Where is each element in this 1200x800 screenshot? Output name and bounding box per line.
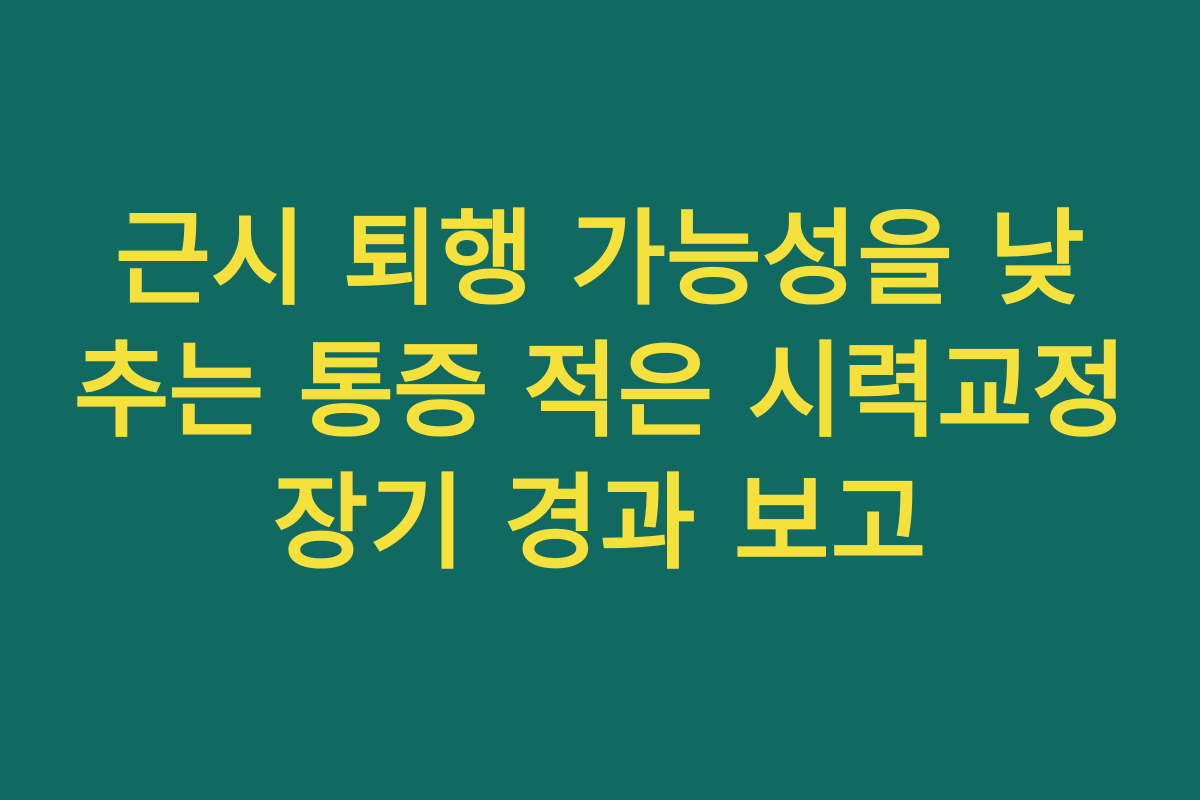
headline-text-block: 근시 퇴행 가능성을 낮 추는 통증 적은 시력교정 장기 경과 보고 [0,193,1200,589]
headline-line-3: 장기 경과 보고 [273,457,928,589]
headline-line-2: 추는 통증 적은 시력교정 [74,325,1126,457]
headline-line-1: 근시 퇴행 가능성을 낮 [115,193,1085,325]
banner-canvas: 근시 퇴행 가능성을 낮 추는 통증 적은 시력교정 장기 경과 보고 [0,0,1200,800]
